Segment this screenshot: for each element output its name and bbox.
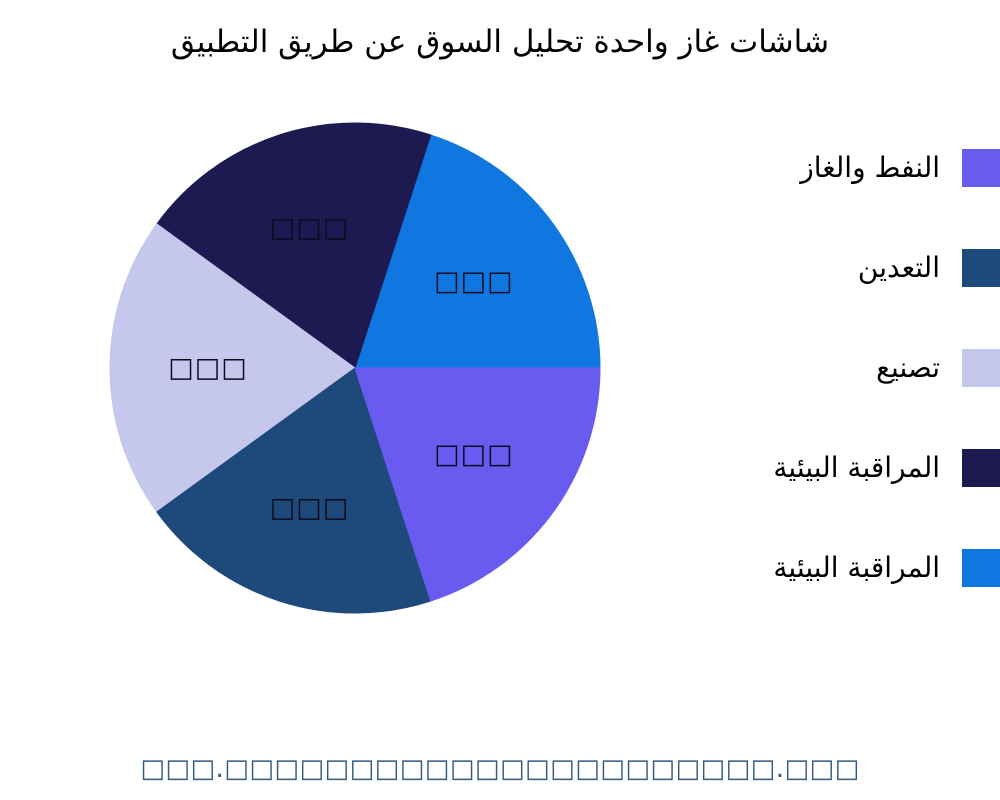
legend-item[interactable]: المراقبة البيئية [610,418,1000,518]
pie-slice-percentage-label: □□□ [270,213,350,244]
pie-slice-percentage-label: □□□ [434,439,514,470]
legend-item[interactable]: النفط والغاز [610,118,1000,218]
legend-item[interactable]: التعدين [610,218,1000,318]
legend-swatch-mining [962,249,1000,287]
pie-slice-percentage-label: □□□ [168,353,248,384]
legend-item-label: المراقبة البيئية [773,451,940,485]
legend-item-label: المراقبة البيئية [773,551,940,585]
legend-item-label: التعدين [858,251,940,285]
legend-item-label: تصنيع [876,351,940,385]
pie-slice-percentage-label: □□□ [434,266,514,297]
legend-swatch-environmental-monitoring-1 [962,449,1000,487]
pie-chart-plot-area: □□□□□□□□□□□□□□□ [0,95,620,655]
pie-slice-percentage-label: □□□ [270,492,350,523]
legend-item[interactable]: تصنيع [610,318,1000,418]
chart-legend: النفط والغازالتعدينتصنيعالمراقبة البيئية… [610,118,1000,618]
legend-swatch-manufacturing [962,349,1000,387]
pie-chart-svg: □□□□□□□□□□□□□□□ [0,95,620,655]
legend-swatch-environmental-monitoring-2 [962,549,1000,587]
legend-item[interactable]: المراقبة البيئية [610,518,1000,618]
footer-watermark-url: □□□.□□□□□□□□□□□□□□□□□□□□□□.□□□ [0,752,1000,786]
legend-item-label: النفط والغاز [800,151,940,185]
page-title: شاشات غاز واحدة تحليل السوق عن طريق التط… [0,20,1000,64]
legend-swatch-oil-and-gas [962,149,1000,187]
